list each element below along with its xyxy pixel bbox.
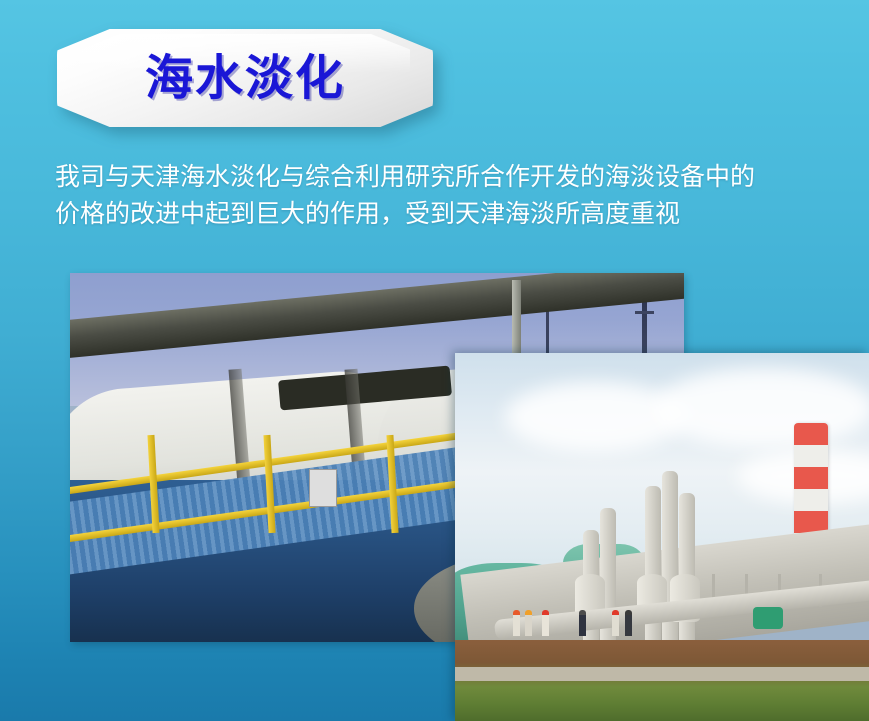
slide-root: 海水淡化 我司与天津海水淡化与综合利用研究所合作开发的海淡设备中的 价格的改进中… [0,0,869,721]
worker-body [625,615,632,636]
worker-body [542,615,549,636]
worker-body [612,615,619,636]
photo-walk-path [455,667,869,681]
description-paragraph: 我司与天津海水淡化与综合利用研究所合作开发的海淡设备中的 价格的改进中起到巨大的… [55,158,869,232]
description-line-1: 我司与天津海水淡化与综合利用研究所合作开发的海淡设备中的 [55,158,869,195]
worker-body [513,615,520,636]
page-title: 海水淡化 [57,54,433,102]
worker-body [579,615,586,636]
photo-worker [625,610,632,636]
title-badge: 海水淡化 [57,29,433,127]
worker-body [525,615,532,636]
photo-green-pump [753,607,783,629]
photo-control-box [309,469,337,507]
photo-worker [612,610,619,636]
photo-worker [542,610,549,636]
description-line-2: 价格的改进中起到巨大的作用，受到天津海淡所高度重视 [55,195,869,232]
photo-worker [525,610,532,636]
photo-cloud [654,368,869,448]
photo-worker [579,610,586,636]
photo-worker [513,610,520,636]
photo-desalination-plant [455,353,869,721]
